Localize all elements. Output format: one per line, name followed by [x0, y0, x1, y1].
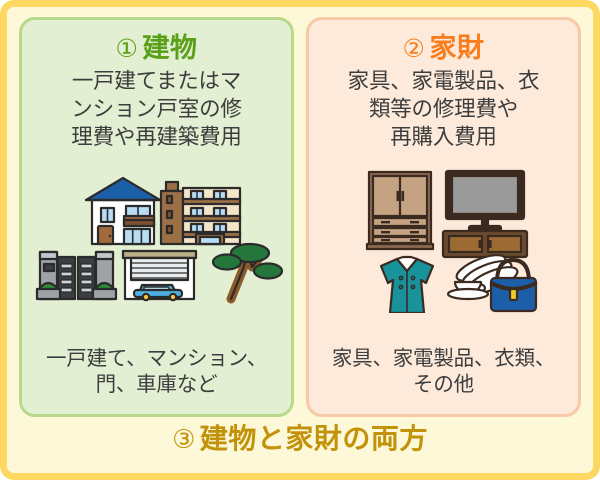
panel-building-illustration: [28, 158, 286, 313]
panel-row: ①建物 一戸建てまたはマ ンション戸室の修 理費や再建築費用: [7, 17, 593, 417]
panel-building-title-text: 建物: [142, 33, 197, 64]
panel-contents-title-text: 家財: [429, 33, 484, 64]
panel-contents-title: ②家財: [403, 34, 485, 64]
television-icon: [443, 171, 527, 257]
house-icon: [86, 178, 160, 244]
panel-building-title: ①建物: [116, 34, 198, 64]
panel-building-number: ①: [116, 34, 139, 63]
pine-tree-icon: [213, 244, 282, 299]
panel-contents: ②家財 家具、家電製品、衣 類等の修理費や 再購入費用: [306, 17, 581, 417]
panel-contents-description: 家具、家電製品、衣 類等の修理費や 再購入費用: [348, 68, 540, 152]
coat-icon: [381, 257, 433, 313]
panel-building: ①建物 一戸建てまたはマ ンション戸室の修 理費や再建築費用: [19, 17, 294, 417]
panel-contents-number: ②: [403, 34, 426, 63]
panel-contents-footnote: 家具、家電製品、衣類、 その他: [332, 345, 555, 398]
panel-building-footnote: 一戸建て、マンション、 門、車庫など: [46, 345, 267, 398]
footer-band: ③建物と家財の両方: [7, 407, 593, 467]
wardrobe-icon: [367, 172, 433, 249]
footer-number: ③: [172, 425, 196, 455]
panel-building-description: 一戸建てまたはマ ンション戸室の修 理費や再建築費用: [71, 68, 241, 152]
footer-title-text: 建物と家財の両方: [200, 422, 428, 455]
garage-with-car-icon: [123, 251, 196, 300]
footer-title: ③建物と家財の両方: [172, 417, 428, 457]
panel-contents-illustration: [315, 158, 573, 313]
infographic-frame: ①建物 一戸建てまたはマ ンション戸室の修 理費や再建築費用: [0, 0, 600, 480]
gate-icon: [37, 252, 116, 299]
apartment-building-icon: [161, 182, 240, 244]
